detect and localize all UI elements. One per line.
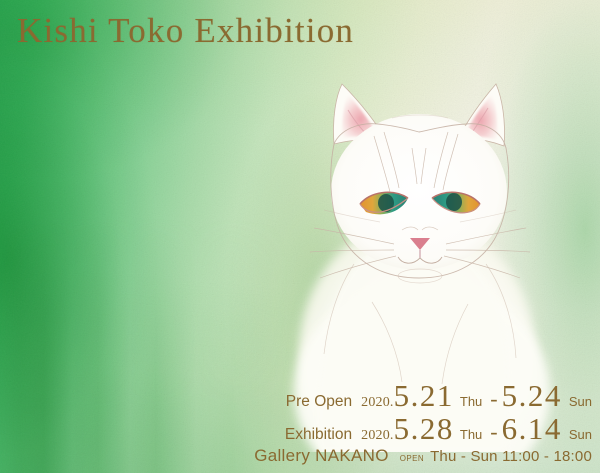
exhibition-poster: Kishi Toko Exhibition Pre Open 2020. 5.2… xyxy=(0,0,600,473)
schedule-year-exhibition: 2020. xyxy=(361,429,394,443)
schedule-end-day-exhibition: Sun xyxy=(569,428,592,441)
schedule-start-date-exhibition: 5.28 xyxy=(394,413,454,444)
schedule-year-pre-open: 2020. xyxy=(361,396,394,410)
schedule-end-date-pre-open: 5.24 xyxy=(502,380,562,411)
schedule-end-date-exhibition: 6.14 xyxy=(502,413,562,444)
venue-hours: Thu - Sun 11:00 - 18:00 xyxy=(430,449,592,464)
venue-row: Gallery NAKANO OPEN Thu - Sun 11:00 - 18… xyxy=(0,447,592,471)
schedule-start-day-pre-open: Thu xyxy=(460,395,482,408)
schedule-end-day-pre-open: Sun xyxy=(569,395,592,408)
schedule-separator-pre-open: - xyxy=(490,388,497,410)
schedule-separator-exhibition: - xyxy=(490,421,497,443)
schedule-start-day-exhibition: Thu xyxy=(460,428,482,441)
schedule-label-pre-open: Pre Open xyxy=(286,394,352,410)
schedule-start-date-pre-open: 5.21 xyxy=(394,380,454,411)
venue-open-label: OPEN xyxy=(400,453,424,465)
schedule-label-exhibition: Exhibition xyxy=(285,427,352,443)
venue-name: Gallery NAKANO xyxy=(254,447,389,464)
page-title: Kishi Toko Exhibition xyxy=(17,11,354,51)
schedule-row-pre-open: Pre Open 2020. 5.21 Thu - 5.24 Sun xyxy=(0,380,592,411)
exhibition-info-block: Pre Open 2020. 5.21 Thu - 5.24 Sun Exhib… xyxy=(0,380,592,471)
schedule-row-exhibition: Exhibition 2020. 5.28 Thu - 6.14 Sun xyxy=(0,413,592,444)
